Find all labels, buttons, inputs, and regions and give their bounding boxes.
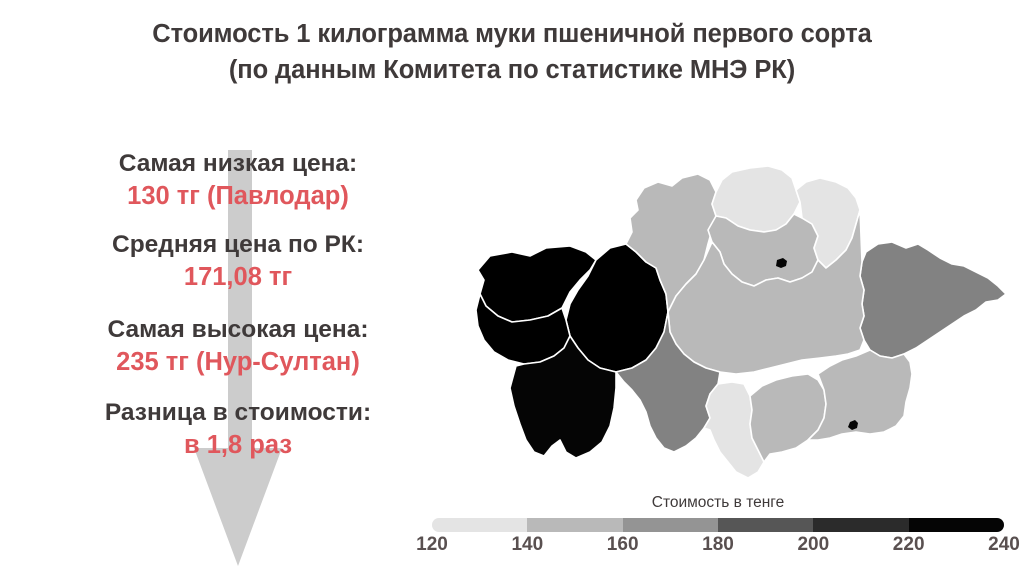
stat-average-price-value: 171,08 тг: [28, 261, 448, 294]
legend-segment-0: [432, 518, 527, 532]
stat-average-price-label: Средняя цена по РК:: [28, 229, 448, 261]
legend-segment-5: [909, 518, 1004, 532]
stat-lowest-price-value: 130 тг (Павлодар): [28, 180, 448, 213]
legend-tick-labels: 120140160180200220240: [432, 534, 1004, 560]
stat-price-difference: Разница в стоимости: в 1,8 раз: [28, 397, 448, 462]
legend-tick-140: 140: [511, 534, 543, 556]
stat-highest-price: Самая высокая цена: 235 тг (Нур-Султан): [28, 314, 448, 379]
legend-segment-3: [718, 518, 813, 532]
stat-price-difference-label: Разница в стоимости:: [28, 397, 448, 429]
legend-tick-240: 240: [988, 534, 1020, 556]
title-line-1: Стоимость 1 килограмма муки пшеничной пе…: [0, 16, 1024, 52]
region-vostochno-kazahstanskaya[interactable]: [860, 242, 1006, 358]
legend-tick-220: 220: [893, 534, 925, 556]
stat-lowest-price-label: Самая низкая цена:: [28, 148, 448, 180]
title-line-2: (по данным Комитета по статистике МНЭ РК…: [0, 52, 1024, 88]
kazakhstan-choropleth-map: [420, 160, 1020, 490]
legend-title: Стоимость в тенге: [432, 494, 1004, 512]
map-legend: Стоимость в тенге 120140160180200220240: [432, 494, 1004, 560]
stat-price-difference-value: в 1,8 раз: [28, 429, 448, 462]
legend-tick-160: 160: [607, 534, 639, 556]
legend-tick-200: 200: [797, 534, 829, 556]
stat-lowest-price: Самая низкая цена: 130 тг (Павлодар): [28, 148, 448, 213]
stat-highest-price-label: Самая высокая цена:: [28, 314, 448, 346]
legend-segment-1: [527, 518, 622, 532]
map-svg: [420, 160, 1020, 490]
legend-segment-4: [813, 518, 908, 532]
page-title: Стоимость 1 килограмма муки пшеничной пе…: [0, 16, 1024, 88]
legend-segment-2: [623, 518, 718, 532]
legend-tick-180: 180: [702, 534, 734, 556]
stat-average-price: Средняя цена по РК: 171,08 тг: [28, 229, 448, 294]
stat-highest-price-value: 235 тг (Нур-Султан): [28, 346, 448, 379]
legend-colorbar: [432, 518, 1004, 532]
region-zhambylskaya[interactable]: [750, 374, 826, 462]
legend-tick-120: 120: [416, 534, 448, 556]
statistics-column: Самая низкая цена: 130 тг (Павлодар) Сре…: [28, 148, 448, 478]
